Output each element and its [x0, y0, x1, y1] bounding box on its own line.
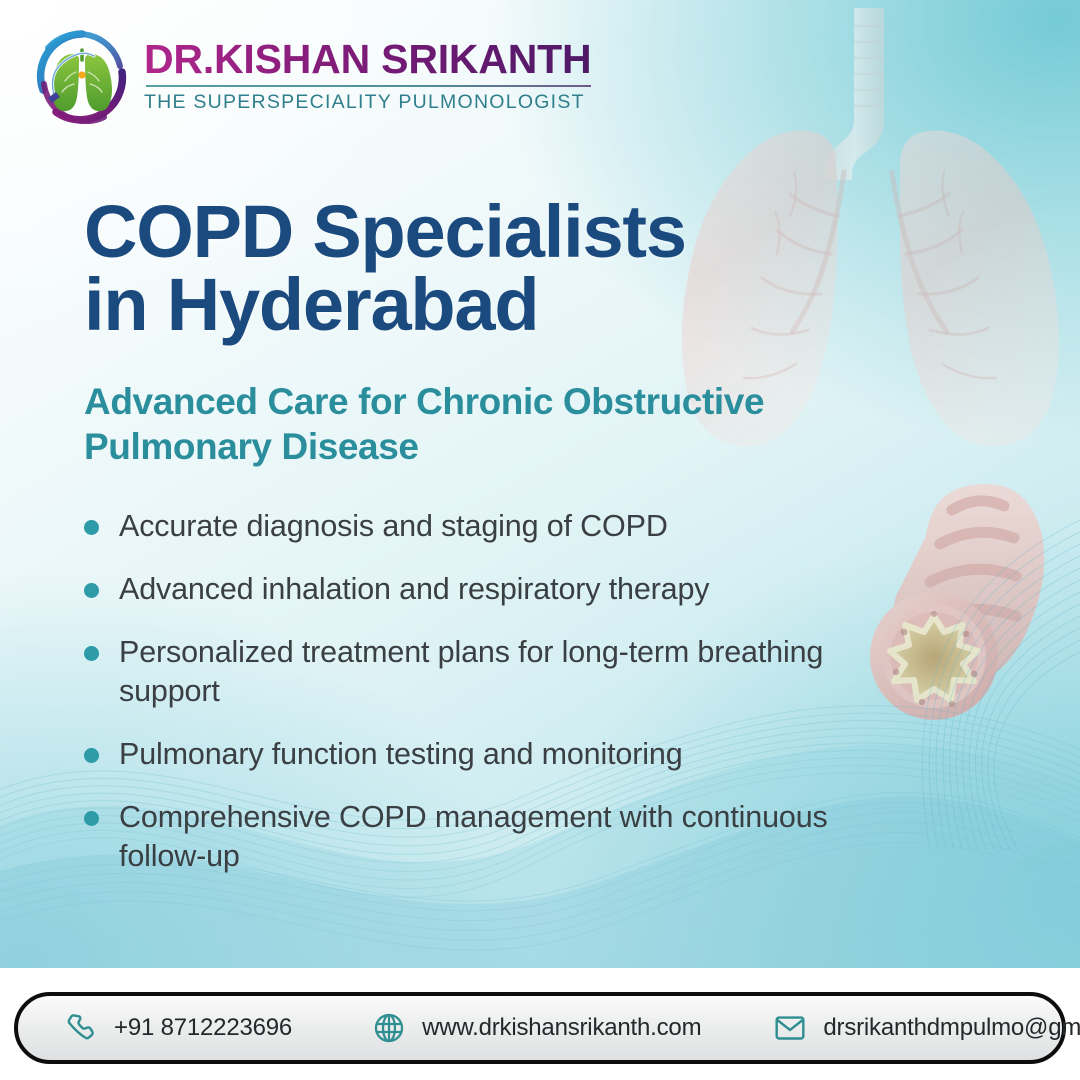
bullet-dot-icon: [84, 583, 99, 598]
envelope-icon: [773, 1011, 807, 1045]
contact-website[interactable]: www.drkishansrikanth.com: [372, 1011, 701, 1045]
list-item-label: Personalized treatment plans for long-te…: [119, 633, 859, 711]
headline-line-1: COPD Specialists: [84, 196, 884, 269]
list-item-label: Comprehensive COPD management with conti…: [119, 798, 859, 876]
list-item-label: Accurate diagnosis and staging of COPD: [119, 507, 668, 546]
email-label: drsrikanthdmpulmo@gmail.com: [823, 1014, 1080, 1042]
bullet-dot-icon: [84, 646, 99, 661]
list-item: Advanced inhalation and respiratory ther…: [84, 570, 884, 609]
bullet-dot-icon: [84, 811, 99, 826]
list-item: Personalized treatment plans for long-te…: [84, 633, 884, 711]
subheadline-line-2: Pulmonary Disease: [84, 424, 884, 469]
main-content: COPD Specialists in Hyderabad Advanced C…: [84, 196, 884, 901]
bullet-dot-icon: [84, 748, 99, 763]
brand-name: DR.KISHAN SRIKANTH: [144, 38, 591, 80]
contact-phone[interactable]: +91 8712223696: [64, 1011, 292, 1045]
page-subtitle: Advanced Care for Chronic Obstructive Pu…: [84, 379, 884, 469]
service-list: Accurate diagnosis and staging of COPD A…: [84, 507, 884, 876]
brand-logo: DR.KISHAN SRIKANTH THE SUPERSPECIALITY P…: [34, 28, 591, 124]
brand-divider: [146, 85, 591, 87]
list-item-label: Advanced inhalation and respiratory ther…: [119, 570, 709, 609]
contact-email[interactable]: drsrikanthdmpulmo@gmail.com: [773, 1011, 1080, 1045]
list-item: Pulmonary function testing and monitorin…: [84, 735, 884, 774]
list-item-label: Pulmonary function testing and monitorin…: [119, 735, 683, 774]
list-item: Accurate diagnosis and staging of COPD: [84, 507, 884, 546]
globe-icon: [372, 1011, 406, 1045]
phone-icon: [64, 1011, 98, 1045]
list-item: Comprehensive COPD management with conti…: [84, 798, 884, 876]
lungs-circle-logo-icon: [34, 28, 130, 124]
website-label: www.drkishansrikanth.com: [422, 1014, 701, 1042]
brand-tagline: THE SUPERSPECIALITY PULMONOLOGIST: [144, 91, 591, 114]
headline-line-2: in Hyderabad: [84, 269, 884, 342]
phone-label: +91 8712223696: [114, 1014, 292, 1042]
subheadline-line-1: Advanced Care for Chronic Obstructive: [84, 379, 884, 424]
bullet-dot-icon: [84, 520, 99, 535]
page-title: COPD Specialists in Hyderabad: [84, 196, 884, 341]
contact-bar: +91 8712223696 www.drkishansrikanth.com …: [14, 992, 1066, 1064]
poster-canvas: DR.KISHAN SRIKANTH THE SUPERSPECIALITY P…: [0, 0, 1080, 1080]
